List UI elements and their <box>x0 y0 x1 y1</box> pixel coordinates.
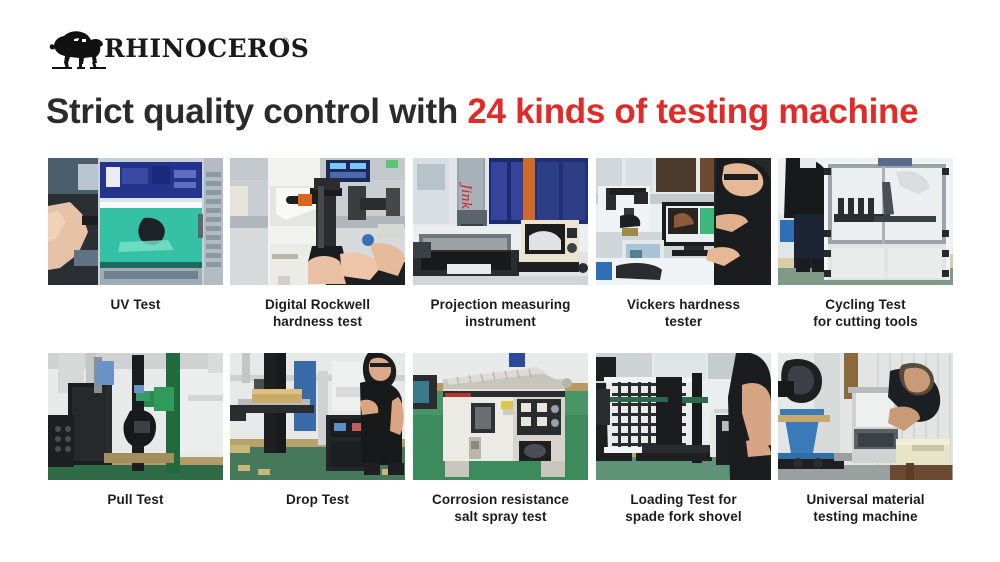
photo-caption: Vickers hardnesstester <box>591 296 776 330</box>
grid-cell[interactable]: Vickers hardnesstester <box>596 158 771 330</box>
vickers-hardness-tester-photo <box>596 158 771 285</box>
pull-test-photo <box>48 353 223 480</box>
brand-wordmark: RHINOCEROS <box>104 34 309 63</box>
photo-caption: Pull Test <box>43 491 228 508</box>
brand-logo: RHINOCEROS ® <box>48 28 248 74</box>
corrosion-resistance-salt-spray-test-photo <box>413 353 588 480</box>
rhinoceros-logo-icon <box>48 28 110 70</box>
universal-material-testing-machine-photo <box>778 353 953 480</box>
grid-cell[interactable]: Universal materialtesting machine <box>778 353 953 525</box>
photo-caption: Corrosion resistancesalt spray test <box>408 491 593 525</box>
photo-caption: Universal materialtesting machine <box>773 491 958 525</box>
photo-caption: Cycling Testfor cutting tools <box>773 296 958 330</box>
uv-test-photo <box>48 158 223 285</box>
photo-caption: Digital Rockwellhardness test <box>225 296 410 330</box>
grid-row: UV Test <box>0 158 1000 353</box>
drop-test-photo <box>230 353 405 480</box>
registered-trademark-icon: ® <box>282 36 289 46</box>
grid-cell[interactable]: Corrosion resistancesalt spray test <box>413 353 588 525</box>
grid-cell[interactable]: Jinkang <box>413 158 588 330</box>
page-title-lead: Strict quality control with <box>46 92 467 131</box>
photo-caption: UV Test <box>43 296 228 313</box>
digital-rockwell-hardness-test-photo <box>230 158 405 285</box>
page-title-highlight: 24 kinds of testing machine <box>467 92 918 131</box>
grid-cell[interactable]: Digital Rockwellhardness test <box>230 158 405 330</box>
loading-test-for-spade-fork-shovel-photo <box>596 353 771 480</box>
grid-cell[interactable]: Loading Test forspade fork shovel <box>596 353 771 525</box>
page-title: Strict quality control with 24 kinds of … <box>46 92 918 132</box>
cycling-test-for-cutting-tools-photo <box>778 158 953 285</box>
slide-root: RHINOCEROS ® Strict quality control with… <box>0 0 1000 562</box>
grid-cell[interactable]: Drop Test <box>230 353 405 508</box>
photo-caption: Projection measuringinstrument <box>408 296 593 330</box>
grid-row: Pull Test <box>0 353 1000 548</box>
grid-cell[interactable]: Pull Test <box>48 353 223 508</box>
projection-measuring-instrument-photo: Jinkang <box>413 158 588 285</box>
grid-cell[interactable]: Cycling Testfor cutting tools <box>778 158 953 330</box>
grid-cell[interactable]: UV Test <box>48 158 223 313</box>
testing-machine-grid: UV Test <box>0 158 1000 548</box>
photo-caption: Loading Test forspade fork shovel <box>591 491 776 525</box>
photo-caption: Drop Test <box>225 491 410 508</box>
